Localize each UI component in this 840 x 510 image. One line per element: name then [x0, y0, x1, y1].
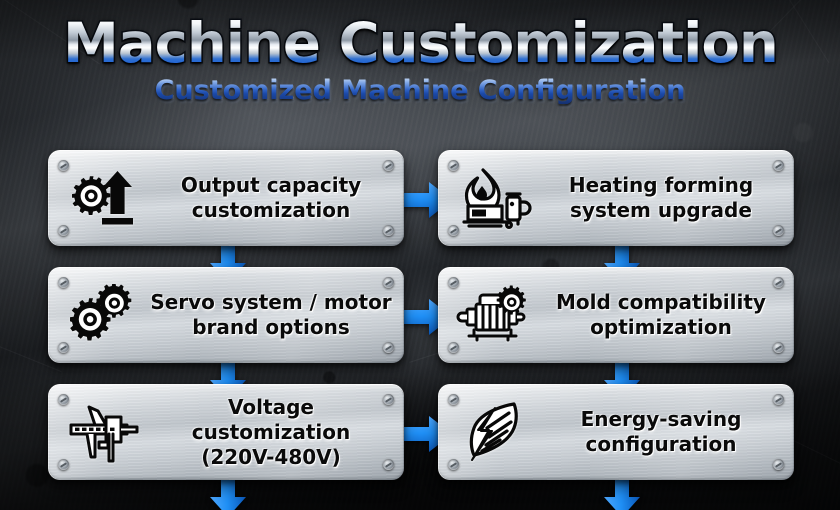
- card-voltage-customization[interactable]: Voltage customization (220V-480V): [48, 384, 404, 480]
- screw-icon: [448, 342, 459, 353]
- screw-icon: [383, 277, 394, 288]
- gear-up-arrow-icon: [62, 167, 148, 229]
- screw-icon: [773, 394, 784, 405]
- screw-icon: [383, 225, 394, 236]
- screw-icon: [58, 342, 69, 353]
- card-output-capacity[interactable]: Output capacity customization: [48, 150, 404, 246]
- card-label-voltage-customization: Voltage customization (220V-480V): [148, 395, 404, 470]
- page-subtitle: Customized Machine Configuration: [155, 77, 686, 104]
- arrow-down-right-3: [604, 477, 640, 510]
- screw-icon: [773, 160, 784, 171]
- screw-icon: [58, 160, 69, 171]
- leaf-bolt-icon: [452, 400, 538, 464]
- card-label-output-capacity: Output capacity customization: [148, 173, 404, 223]
- screw-icon: [383, 459, 394, 470]
- screw-icon: [58, 277, 69, 288]
- card-energy-saving[interactable]: Energy-saving configuration: [438, 384, 794, 480]
- header: Machine Customization Machine Customizat…: [0, 16, 840, 104]
- card-heating-forming[interactable]: Heating forming system upgrade: [438, 150, 794, 246]
- card-label-mold-compatibility: Mold compatibility optimization: [538, 290, 794, 340]
- flame-machine-icon: [452, 166, 538, 230]
- screw-icon: [383, 394, 394, 405]
- screw-icon: [58, 394, 69, 405]
- card-servo-system[interactable]: Servo system / motor brand options: [48, 267, 404, 363]
- screw-icon: [448, 277, 459, 288]
- screw-icon: [773, 277, 784, 288]
- caliper-icon: [62, 401, 148, 463]
- arrow-down-left-3: [210, 477, 246, 510]
- screw-icon: [773, 459, 784, 470]
- screw-icon: [58, 225, 69, 236]
- screw-icon: [773, 225, 784, 236]
- screw-icon: [448, 459, 459, 470]
- card-mold-compatibility[interactable]: Mold compatibility optimization: [438, 267, 794, 363]
- screw-icon: [448, 394, 459, 405]
- motor-gear-icon: [452, 285, 538, 345]
- screw-icon: [383, 342, 394, 353]
- screw-icon: [448, 160, 459, 171]
- page-title: Machine Customization: [63, 16, 778, 71]
- card-label-heating-forming: Heating forming system upgrade: [538, 173, 794, 223]
- double-gear-icon: [62, 284, 148, 346]
- card-label-servo-system: Servo system / motor brand options: [148, 290, 404, 340]
- infographic-canvas: Machine Customization Machine Customizat…: [0, 0, 840, 510]
- screw-icon: [773, 342, 784, 353]
- card-label-energy-saving: Energy-saving configuration: [538, 407, 794, 457]
- screw-icon: [383, 160, 394, 171]
- screw-icon: [448, 225, 459, 236]
- screw-icon: [58, 459, 69, 470]
